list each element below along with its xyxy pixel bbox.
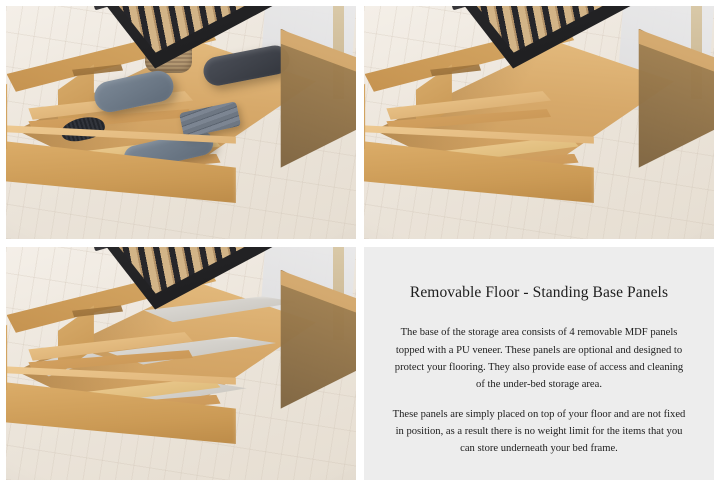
storage-bed-empty-base-photo (364, 6, 714, 239)
ottoman-bed-frame (6, 11, 356, 235)
description-panel: Removable Floor - Standing Base Panels T… (364, 247, 714, 480)
photo-cell-bottom-left[interactable] (6, 247, 356, 480)
text-cell-bottom-right: Removable Floor - Standing Base Panels T… (364, 247, 714, 480)
storage-bed-with-contents-photo (6, 6, 356, 239)
ottoman-bed-frame (364, 11, 714, 235)
panel-title: Removable Floor - Standing Base Panels (410, 283, 668, 302)
photo-cell-top-right[interactable] (364, 6, 714, 239)
ottoman-bed-frame (6, 252, 356, 476)
photo-cell-top-left[interactable] (6, 6, 356, 239)
product-image-grid: Removable Floor - Standing Base Panels T… (0, 0, 720, 487)
storage-bed-with-mdf-panels-photo (6, 247, 356, 480)
panel-paragraph-2: These panels are simply placed on top of… (390, 406, 688, 457)
panel-paragraph-1: The base of the storage area consists of… (390, 324, 688, 393)
